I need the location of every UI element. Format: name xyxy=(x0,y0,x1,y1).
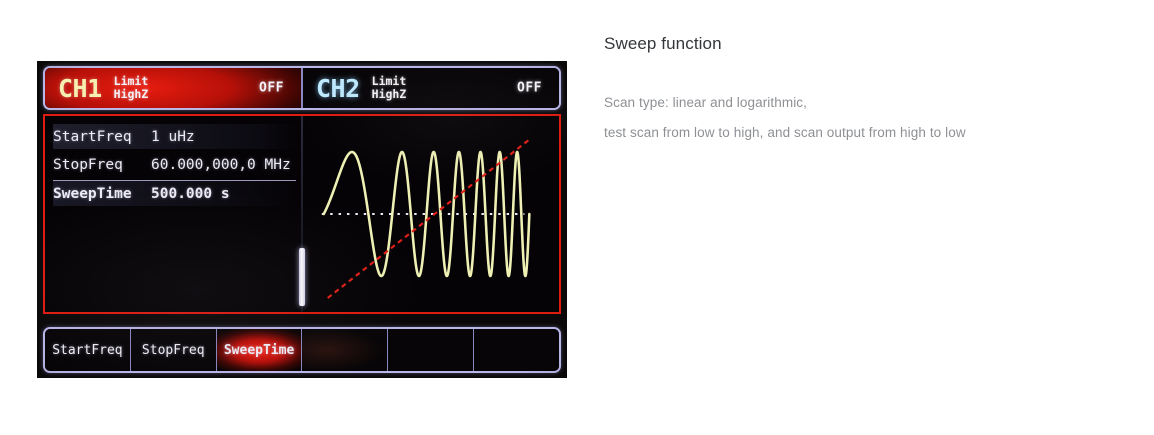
function-generator-screen-photo: CH1 Limit HighZ OFF CH2 Limit HighZ OFF xyxy=(37,61,567,378)
softkey-bar: StartFreq StopFreq SweepTime xyxy=(43,327,561,373)
ch2-limit-impedance: Limit HighZ xyxy=(372,75,407,101)
parameter-value-sweeptime: 500.000 s xyxy=(151,186,230,202)
parameter-row-stopfreq[interactable]: StopFreq 60.000,000,0 MHz xyxy=(53,152,296,177)
parameter-value-startfreq: 1 uHz xyxy=(151,129,195,145)
softkey-sweeptime[interactable]: SweepTime xyxy=(217,329,303,371)
softkey-empty-5[interactable] xyxy=(388,329,474,371)
channel-block-ch2[interactable]: CH2 Limit HighZ OFF xyxy=(301,68,559,108)
parameter-name-startfreq: StartFreq xyxy=(53,129,151,145)
softkey-label-stopfreq: StopFreq xyxy=(142,343,205,358)
channel-block-ch1[interactable]: CH1 Limit HighZ OFF xyxy=(45,68,301,108)
main-display-area: StartFreq 1 uHz StopFreq 60.000,000,0 MH… xyxy=(43,114,561,314)
waveform-svg xyxy=(302,116,559,312)
softkey-label-sweeptime: SweepTime xyxy=(224,343,294,358)
parameter-name-sweeptime: SweepTime xyxy=(53,186,151,202)
ch1-impedance-text: HighZ xyxy=(114,87,149,101)
softkey-label-startfreq: StartFreq xyxy=(52,343,122,358)
page-title: Sweep function xyxy=(604,34,1074,54)
ch2-output-state[interactable]: OFF xyxy=(517,81,542,96)
softkey-startfreq[interactable]: StartFreq xyxy=(45,329,131,371)
ch2-label: CH2 xyxy=(316,74,360,103)
parameter-row-sweeptime[interactable]: SweepTime 500.000 s xyxy=(53,180,296,206)
parameter-list: StartFreq 1 uHz StopFreq 60.000,000,0 MH… xyxy=(45,116,302,312)
device-screen: CH1 Limit HighZ OFF CH2 Limit HighZ OFF xyxy=(43,66,561,373)
softkey-stopfreq[interactable]: StopFreq xyxy=(131,329,217,371)
ch1-limit-text: Limit xyxy=(114,74,149,88)
description-line-2: test scan from low to high, and scan out… xyxy=(604,118,1074,148)
channel-status-bar: CH1 Limit HighZ OFF CH2 Limit HighZ OFF xyxy=(43,66,561,110)
softkey-empty-4[interactable] xyxy=(302,329,388,371)
ch1-label: CH1 xyxy=(58,74,102,103)
description-line-1: Scan type: linear and logarithmic, xyxy=(604,88,1074,118)
parameter-name-stopfreq: StopFreq xyxy=(53,157,151,173)
description-column: Sweep function Scan type: linear and log… xyxy=(604,34,1074,148)
ch2-impedance-text: HighZ xyxy=(372,87,407,101)
ch1-output-state[interactable]: OFF xyxy=(259,81,284,96)
ch1-limit-impedance: Limit HighZ xyxy=(114,75,149,101)
waveform-preview xyxy=(302,116,559,312)
softkey-empty-6[interactable] xyxy=(474,329,559,371)
parameter-row-startfreq[interactable]: StartFreq 1 uHz xyxy=(53,124,296,149)
ch2-limit-text: Limit xyxy=(372,74,407,88)
parameter-value-stopfreq: 60.000,000,0 MHz xyxy=(151,157,291,173)
